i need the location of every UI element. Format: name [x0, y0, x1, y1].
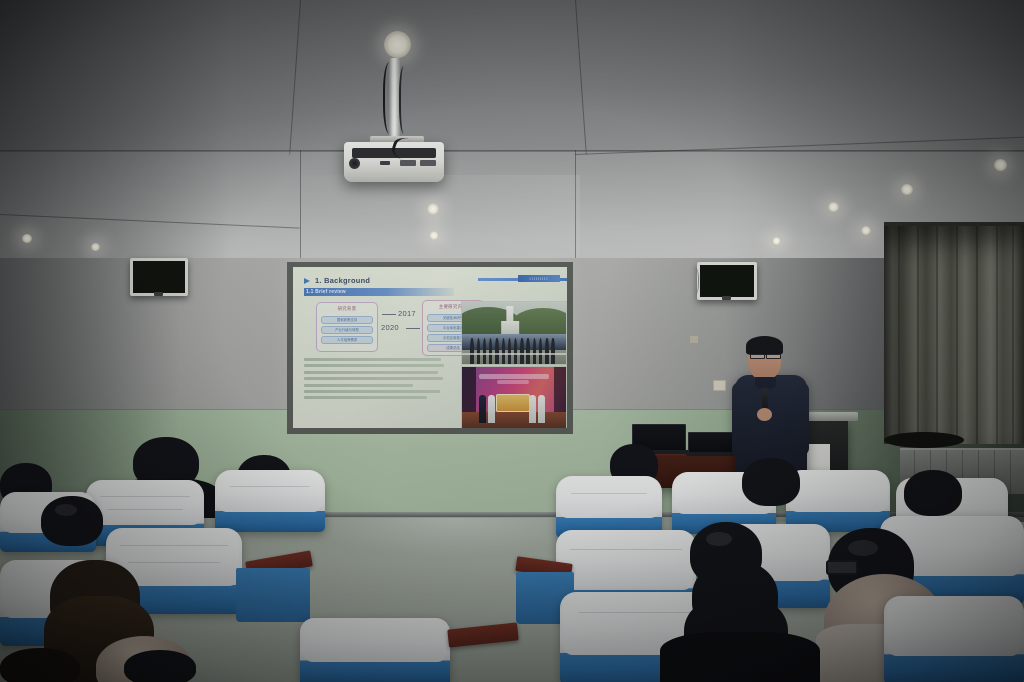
speaker-mount	[722, 296, 731, 300]
wall-outlet[interactable]	[713, 380, 726, 391]
audience-head	[742, 458, 800, 506]
projector-lens	[349, 158, 360, 169]
laptop[interactable]	[688, 432, 734, 456]
curtain-hem-shadow	[884, 432, 964, 448]
wall-speaker-left	[130, 258, 188, 296]
slide-left-pill: 人才培养需求	[321, 336, 373, 344]
audience-shoulders	[660, 632, 820, 682]
presenter-hair	[746, 336, 783, 355]
auditorium-seat[interactable]	[786, 470, 890, 532]
slide-left-pill: 产业升级与转型	[321, 326, 373, 334]
slide-title: 1. Background	[315, 276, 370, 285]
slide-left-pill-text: 产业升级与转型	[322, 327, 372, 333]
wall-speaker-right	[697, 262, 757, 300]
speaker-cable	[690, 268, 699, 294]
downlight	[427, 203, 439, 215]
downlight	[828, 202, 839, 212]
slide-left-pill-text: 国家政策支持	[322, 317, 372, 323]
timeline-dash	[406, 328, 420, 329]
auditorium-seat[interactable]	[215, 470, 325, 532]
presenter-glasses	[766, 354, 781, 359]
downlight	[861, 226, 871, 235]
ceiling-seam	[300, 150, 301, 262]
window-curtain[interactable]	[884, 226, 1024, 444]
auditorium-seat[interactable]	[884, 596, 1024, 682]
downlight	[994, 159, 1007, 171]
slide-left-pill-text: 人才培养需求	[322, 337, 372, 343]
slide-award-photo	[461, 366, 567, 428]
presentation-slide: 1. Background IIIIIIIII 1.1 Brief review…	[293, 267, 567, 428]
downlight	[901, 184, 913, 195]
audience-head	[41, 496, 103, 546]
auditorium-seat[interactable]	[300, 618, 450, 682]
slide-left-pill: 国家政策支持	[321, 316, 373, 324]
ceiling-seam	[289, 0, 301, 155]
play-triangle-icon	[304, 278, 310, 284]
ceiling	[0, 0, 1024, 262]
presenter-arm-left	[732, 382, 753, 458]
downlight	[22, 234, 32, 243]
presenter-arm-right	[789, 382, 809, 456]
slide-badge-text: IIIIIIIII	[518, 275, 560, 282]
audience-head	[904, 470, 962, 516]
slide-group-photo	[461, 301, 567, 365]
auditorium-seat[interactable]	[556, 476, 662, 538]
timeline-year-end: 2020	[381, 323, 399, 332]
slide-logo-badge: IIIIIIIII	[518, 275, 560, 282]
projector-cable	[399, 66, 411, 134]
slide-body-paragraph	[304, 358, 444, 403]
downlight	[772, 237, 781, 245]
slide-section-label: 1.1 Brief review	[306, 289, 346, 295]
projector-cable	[383, 62, 399, 134]
downlight	[384, 31, 411, 58]
presenter-hand	[757, 408, 772, 421]
ceiling-shadow	[0, 0, 230, 262]
slide-left-box-heading: 研究背景	[338, 306, 357, 312]
timeline-year-start: 2017	[398, 309, 416, 318]
floor-reflection	[300, 518, 600, 558]
downlight	[91, 243, 100, 251]
timeline-dash	[382, 314, 396, 315]
wall-screw	[690, 336, 698, 343]
slide-left-box: 研究背景 国家政策支持 产业升级与转型 人才培养需求	[316, 302, 378, 352]
audience-glasses	[826, 560, 858, 575]
ceiling-seam	[575, 150, 576, 262]
speaker-mount	[154, 292, 163, 296]
presentation-room-scene: 1. Background IIIIIIIII 1.1 Brief review…	[0, 0, 1024, 682]
audience-head	[0, 648, 80, 682]
presenter-glasses	[750, 354, 765, 359]
projector-port	[380, 161, 390, 165]
seat-side-panel	[236, 568, 310, 622]
ceiling-seam	[575, 0, 587, 155]
audience-head	[124, 650, 196, 682]
downlight	[429, 231, 439, 240]
